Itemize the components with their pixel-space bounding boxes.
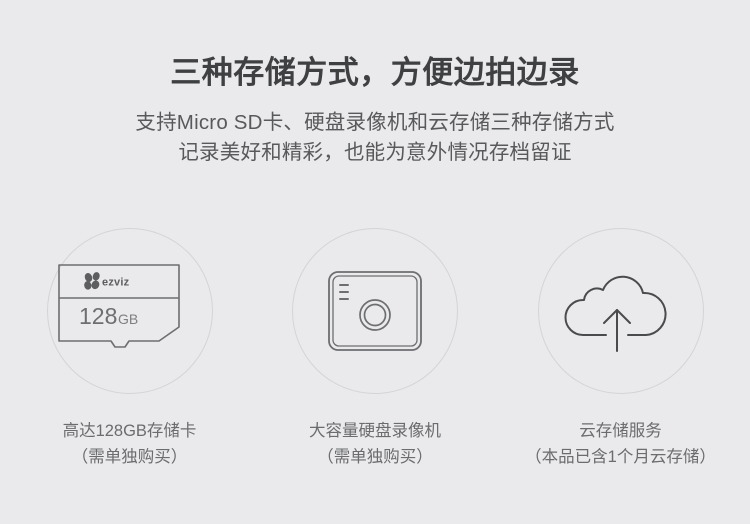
sd-card-capacity-unit: GB — [118, 311, 138, 327]
page-title: 三种存储方式，方便边拍边录 — [0, 0, 750, 94]
ezviz-logo-mark — [83, 271, 100, 290]
caption-line-secondary: （需单独购买） — [63, 444, 197, 470]
subtitle-line-2: 记录美好和精彩，也能为意外情况存档留证 — [0, 138, 750, 168]
page-subtitle: 支持Micro SD卡、硬盘录像机和云存储三种存储方式 记录美好和精彩，也能为意… — [0, 108, 750, 168]
storage-option-cloud: 云存储服务 （本品已含1个月云存储） — [499, 228, 742, 470]
caption-line-secondary: （本品已含1个月云存储） — [525, 444, 716, 470]
nvr-indicator-dashes — [340, 285, 348, 299]
upload-arrow — [604, 310, 630, 351]
nvr-recorder-icon — [323, 259, 427, 363]
caption-line-primary: 云存储服务 — [525, 418, 716, 444]
storage-option-sd-card: ezviz 128 GB 高达128GB存储卡 （需单独购买） — [8, 228, 251, 470]
page-header: 三种存储方式，方便边拍边录 支持Micro SD卡、硬盘录像机和云存储三种存储方… — [0, 0, 750, 168]
storage-options-list: ezviz 128 GB 高达128GB存储卡 （需单独购买） — [0, 228, 750, 470]
cloud-icon-circle — [538, 228, 704, 394]
caption-line-primary: 高达128GB存储卡 — [63, 418, 197, 444]
caption-line-secondary: （需单独购买） — [309, 444, 441, 470]
nvr-caption: 大容量硬盘录像机 （需单独购买） — [309, 418, 441, 470]
nvr-icon-circle — [292, 228, 458, 394]
cloud-caption: 云存储服务 （本品已含1个月云存储） — [525, 418, 716, 470]
sd-card-capacity-value: 128 — [79, 303, 117, 329]
sd-card-icon-circle: ezviz 128 GB — [47, 228, 213, 394]
caption-line-primary: 大容量硬盘录像机 — [309, 418, 441, 444]
sd-card-icon: ezviz 128 GB — [55, 251, 205, 371]
storage-option-nvr: 大容量硬盘录像机 （需单独购买） — [254, 228, 497, 470]
sd-card-caption: 高达128GB存储卡 （需单独购买） — [63, 418, 197, 470]
cloud-upload-icon — [558, 259, 684, 363]
subtitle-line-1: 支持Micro SD卡、硬盘录像机和云存储三种存储方式 — [0, 108, 750, 138]
sd-card-brand-label: ezviz — [102, 277, 130, 289]
